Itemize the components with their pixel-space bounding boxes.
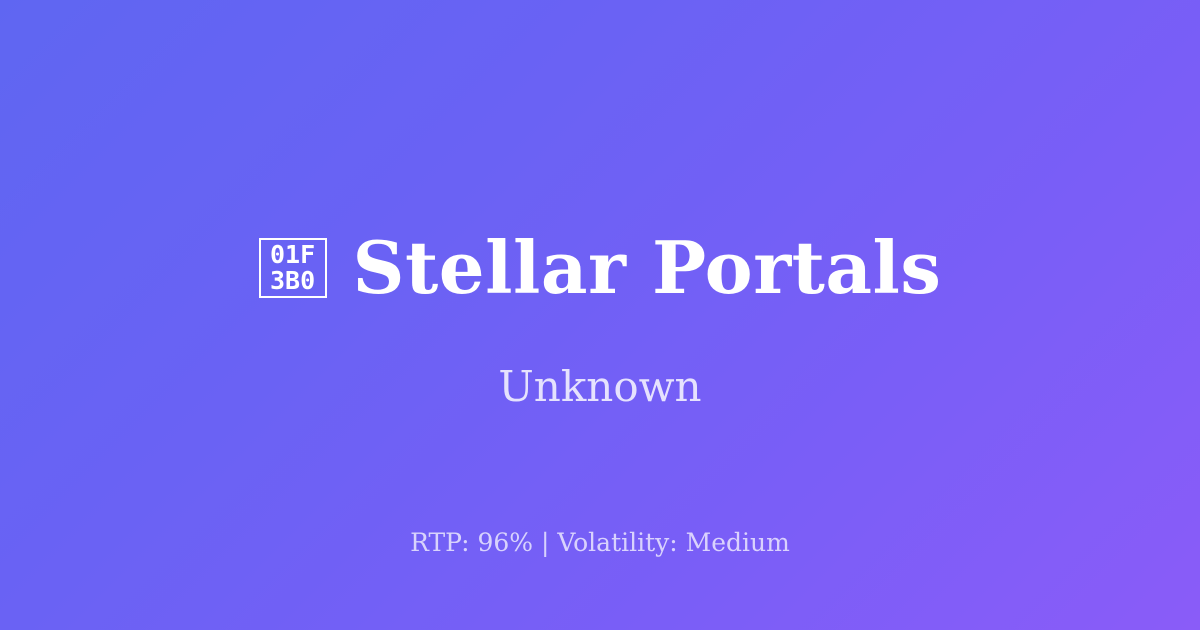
- slot-machine-icon: 01F 3B0: [259, 238, 327, 298]
- tofu-hex-bottom: 3B0: [270, 268, 315, 294]
- page-title: Stellar Portals: [353, 232, 942, 304]
- title-row: 01F 3B0 Stellar Portals: [0, 232, 1200, 304]
- provider-name: Unknown: [0, 362, 1200, 412]
- game-meta-stats: RTP: 96% | Volatility: Medium: [0, 527, 1200, 559]
- tofu-hex-top: 01F: [270, 242, 315, 268]
- game-share-card: 01F 3B0 Stellar Portals Unknown RTP: 96%…: [0, 0, 1200, 630]
